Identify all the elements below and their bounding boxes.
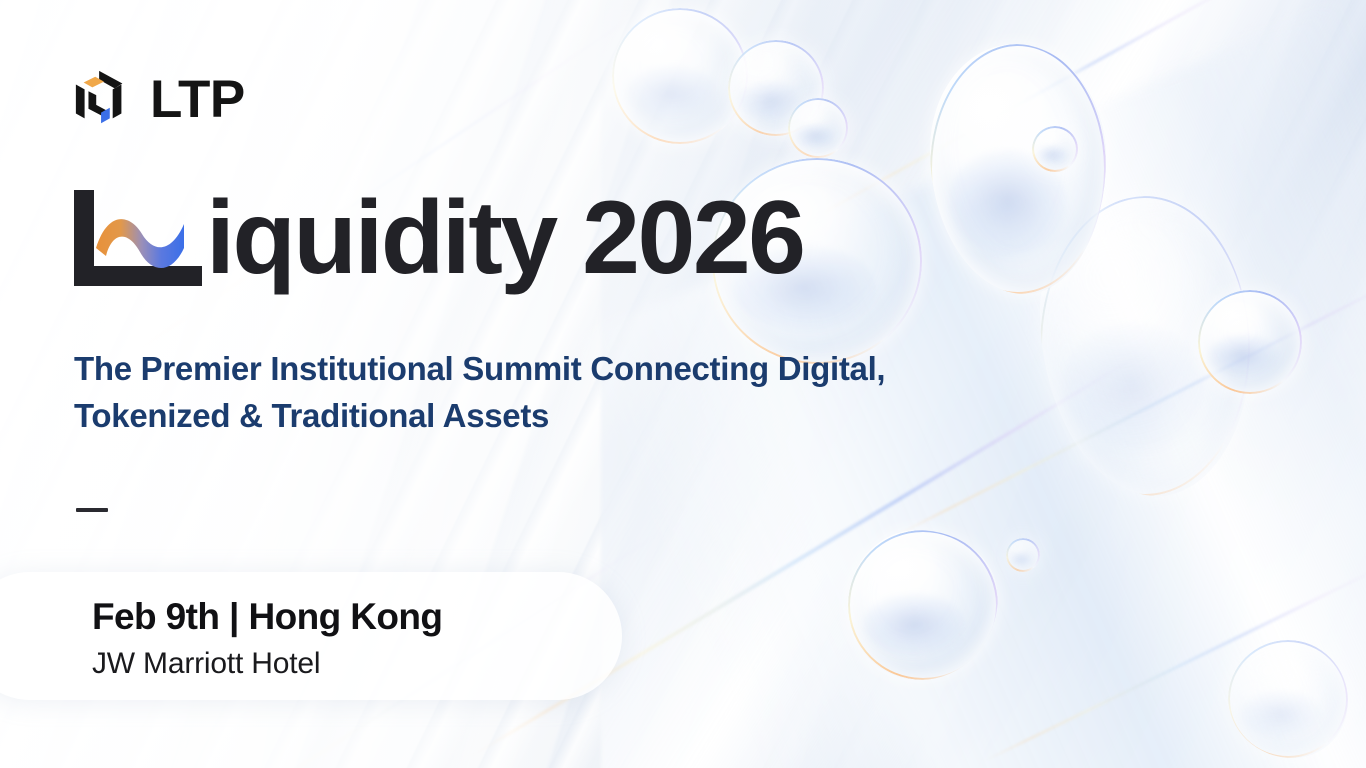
event-banner: LTP iquidity 2 [0,0,1366,768]
banner-subtitle: The Premier Institutional Summit Connect… [74,346,1034,440]
section-divider [76,508,108,512]
event-date-location: Feb 9th | Hong Kong [92,594,442,640]
ltp-logo-lockup[interactable]: LTP [72,68,245,130]
event-details-card: Feb 9th | Hong Kong JW Marriott Hotel [0,572,622,700]
event-details-content: Feb 9th | Hong Kong JW Marriott Hotel [92,594,442,683]
banner-content: LTP iquidity 2 [0,0,1366,768]
subtitle-line-1: The Premier Institutional Summit Connect… [74,346,1034,393]
subtitle-line-2: Tokenized & Traditional Assets [74,393,1034,440]
ltp-isometric-cube-icon [72,68,134,130]
event-venue: JW Marriott Hotel [92,644,442,683]
ltp-wordmark: LTP [150,73,245,126]
page-title: iquidity 2026 [72,186,804,290]
page-title-text: iquidity 2026 [206,186,804,290]
liquidity-wave-l-icon [72,190,204,286]
